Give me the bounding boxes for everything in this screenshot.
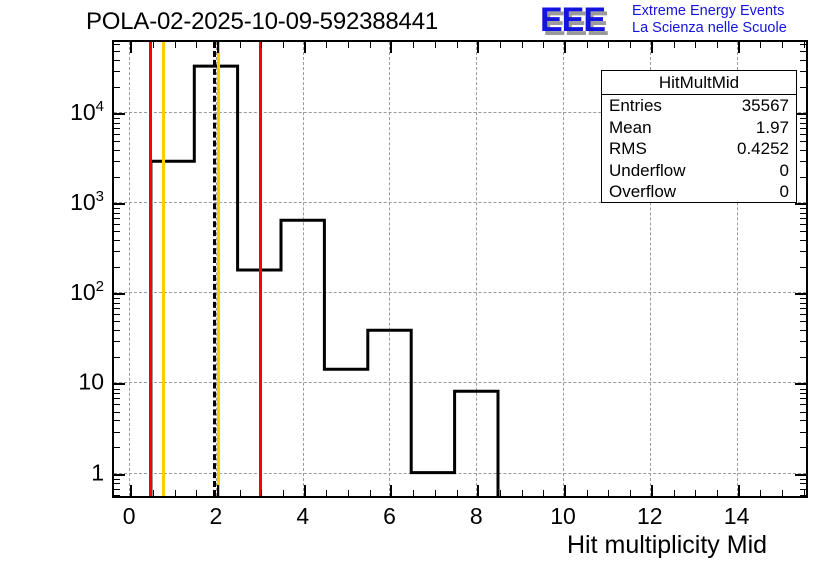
axis-tick xyxy=(114,308,120,309)
axis-tick xyxy=(800,231,806,232)
axis-tick xyxy=(370,42,371,48)
axis-tick xyxy=(240,490,241,496)
x-axis-title: Hit multiplicity Mid xyxy=(567,531,767,560)
axis-tick xyxy=(800,213,806,214)
axis-tick xyxy=(114,224,120,225)
axis-tick xyxy=(114,432,120,433)
axis-tick xyxy=(114,213,120,214)
stats-row: RMS0.4252 xyxy=(602,138,796,160)
axis-tick xyxy=(114,51,120,52)
axis-tick xyxy=(800,251,806,252)
axis-tick xyxy=(804,42,805,48)
axis-tick xyxy=(114,303,120,304)
axis-tick xyxy=(114,177,120,178)
y-tick-label: 102 xyxy=(42,279,104,307)
axis-tick xyxy=(326,490,327,496)
axis-tick xyxy=(435,42,436,48)
axis-tick xyxy=(196,42,197,48)
y-tick-label: 104 xyxy=(42,98,104,126)
axis-tick xyxy=(114,134,120,135)
axis-tick xyxy=(800,404,806,405)
axis-tick xyxy=(522,42,523,48)
axis-tick xyxy=(800,208,806,209)
axis-tick xyxy=(114,298,120,299)
axis-tick xyxy=(800,398,806,399)
axis-tick xyxy=(800,177,806,178)
axis-tick xyxy=(114,357,120,358)
axis-tick xyxy=(800,483,806,484)
axis-tick xyxy=(413,42,414,48)
axis-tick xyxy=(800,341,806,342)
axis-tick xyxy=(800,389,806,390)
axis-tick xyxy=(114,341,120,342)
stats-row: Mean1.97 xyxy=(602,117,796,139)
axis-tick xyxy=(717,490,718,496)
axis-tick xyxy=(390,42,392,53)
axis-tick xyxy=(800,308,806,309)
axis-tick xyxy=(114,231,120,232)
axis-tick xyxy=(800,161,806,162)
axis-tick xyxy=(114,447,120,448)
stats-row-label: Entries xyxy=(609,95,662,117)
axis-tick xyxy=(795,203,806,205)
stats-row-label: Overflow xyxy=(609,181,676,203)
axis-tick xyxy=(760,490,761,496)
axis-tick xyxy=(800,224,806,225)
axis-tick xyxy=(283,490,284,496)
axis-tick xyxy=(175,42,176,48)
stats-row: Underflow0 xyxy=(602,160,796,182)
axis-tick xyxy=(674,490,675,496)
axis-tick xyxy=(114,87,120,88)
axis-tick xyxy=(114,314,120,315)
eee-tagline-line1: Extreme Energy Events xyxy=(632,3,787,20)
axis-tick xyxy=(348,490,349,496)
axis-tick xyxy=(457,42,458,48)
axis-tick xyxy=(500,490,501,496)
axis-tick xyxy=(800,447,806,448)
axis-tick xyxy=(153,490,154,496)
axis-tick xyxy=(800,412,806,413)
axis-tick xyxy=(114,44,120,45)
axis-tick xyxy=(153,42,154,48)
axis-tick xyxy=(800,432,806,433)
axis-tick xyxy=(800,44,806,45)
x-tick-label: 12 xyxy=(637,503,663,530)
axis-tick xyxy=(800,321,806,322)
axis-tick xyxy=(217,485,219,496)
axis-tick xyxy=(717,42,718,48)
axis-tick xyxy=(587,490,588,496)
x-tick-label: 8 xyxy=(470,503,483,530)
axis-tick xyxy=(457,490,458,496)
axis-tick xyxy=(760,42,761,48)
axis-tick xyxy=(800,141,806,142)
axis-tick xyxy=(800,134,806,135)
axis-tick xyxy=(114,495,120,496)
axis-tick xyxy=(114,203,125,205)
stats-row-label: RMS xyxy=(609,138,647,160)
stats-row-value: 0.4252 xyxy=(737,138,789,160)
axis-tick xyxy=(587,42,588,48)
axis-tick xyxy=(500,42,501,48)
axis-tick xyxy=(543,490,544,496)
axis-tick xyxy=(114,218,120,219)
axis-tick xyxy=(564,485,566,496)
axis-tick xyxy=(800,479,806,480)
axis-tick xyxy=(800,240,806,241)
axis-tick xyxy=(738,485,740,496)
axis-tick xyxy=(800,303,806,304)
axis-tick xyxy=(800,123,806,124)
axis-tick xyxy=(695,42,696,48)
axis-tick xyxy=(522,490,523,496)
axis-tick xyxy=(800,267,806,268)
axis-tick xyxy=(800,357,806,358)
stats-row-value: 0 xyxy=(780,160,789,182)
root-canvas: POLA-02-2025-10-09-592388441 EEE Extreme… xyxy=(0,0,836,572)
axis-tick xyxy=(114,412,120,413)
axis-tick xyxy=(114,398,120,399)
axis-tick xyxy=(630,490,631,496)
axis-tick xyxy=(608,42,609,48)
axis-tick xyxy=(477,42,479,53)
axis-tick xyxy=(695,490,696,496)
axis-tick xyxy=(800,87,806,88)
axis-tick xyxy=(196,490,197,496)
stats-row: Overflow0 xyxy=(602,181,796,203)
y-tick-label: 1 xyxy=(42,459,104,486)
axis-tick xyxy=(114,141,120,142)
axis-tick xyxy=(795,383,806,385)
x-tick-label: 0 xyxy=(123,503,136,530)
axis-tick xyxy=(413,490,414,496)
axis-tick xyxy=(800,330,806,331)
axis-tick xyxy=(114,60,120,61)
axis-tick xyxy=(261,490,262,496)
axis-tick xyxy=(800,489,806,490)
axis-tick xyxy=(114,161,120,162)
axis-tick xyxy=(800,314,806,315)
axis-tick xyxy=(800,51,806,52)
axis-tick xyxy=(800,60,806,61)
axis-tick xyxy=(283,42,284,48)
axis-tick xyxy=(800,420,806,421)
x-tick-label: 2 xyxy=(210,503,223,530)
stats-box-title: HitMultMid xyxy=(602,71,796,95)
axis-tick xyxy=(304,42,306,53)
axis-tick xyxy=(114,113,125,115)
axis-tick xyxy=(782,490,783,496)
axis-tick xyxy=(114,240,120,241)
eee-tagline-line2: La Scienza nelle Scuole xyxy=(632,20,787,37)
axis-tick xyxy=(608,490,609,496)
axis-tick xyxy=(795,474,806,476)
axis-tick xyxy=(564,42,566,53)
axis-tick xyxy=(800,393,806,394)
axis-tick xyxy=(114,420,120,421)
axis-tick xyxy=(114,474,125,476)
axis-tick xyxy=(390,485,392,496)
stats-row-label: Underflow xyxy=(609,160,686,182)
axis-tick xyxy=(800,118,806,119)
eee-logo-tagline: Extreme Energy Events La Scienza nelle S… xyxy=(632,3,787,37)
axis-tick xyxy=(114,150,120,151)
axis-tick xyxy=(651,42,653,53)
axis-tick xyxy=(543,42,544,48)
axis-tick xyxy=(114,123,120,124)
x-tick-label: 4 xyxy=(296,503,309,530)
stats-row-label: Mean xyxy=(609,117,652,139)
axis-tick xyxy=(800,218,806,219)
axis-tick xyxy=(800,71,806,72)
axis-tick xyxy=(630,42,631,48)
axis-tick xyxy=(217,42,219,53)
axis-tick xyxy=(114,330,120,331)
axis-tick xyxy=(114,128,120,129)
stats-box-rows: Entries35567Mean1.97RMS0.4252Underflow0O… xyxy=(602,95,796,203)
eee-logo: EEE Extreme Energy Events La Scienza nel… xyxy=(540,2,832,42)
axis-tick xyxy=(304,485,306,496)
axis-tick xyxy=(738,42,740,53)
axis-tick xyxy=(800,150,806,151)
stats-box: HitMultMid Entries35567Mean1.97RMS0.4252… xyxy=(601,70,797,203)
axis-tick xyxy=(114,404,120,405)
stats-row-value: 35567 xyxy=(742,95,789,117)
x-tick-label: 6 xyxy=(383,503,396,530)
axis-tick xyxy=(782,42,783,48)
axis-tick xyxy=(175,490,176,496)
axis-tick xyxy=(261,42,262,48)
stats-row: Entries35567 xyxy=(602,95,796,117)
axis-tick xyxy=(800,495,806,496)
axis-tick xyxy=(114,293,125,295)
axis-tick xyxy=(130,42,132,53)
eee-logo-letters: EEE xyxy=(540,3,626,37)
axis-tick xyxy=(435,490,436,496)
axis-tick xyxy=(114,489,120,490)
stats-row-value: 0 xyxy=(780,181,789,203)
axis-tick xyxy=(651,485,653,496)
axis-tick xyxy=(114,393,120,394)
y-tick-label: 10 xyxy=(42,369,104,396)
axis-tick xyxy=(114,71,120,72)
axis-tick xyxy=(795,293,806,295)
axis-tick xyxy=(800,298,806,299)
axis-tick xyxy=(240,42,241,48)
axis-tick xyxy=(114,118,120,119)
axis-tick xyxy=(477,485,479,496)
axis-tick xyxy=(114,383,125,385)
stats-row-value: 1.97 xyxy=(756,117,789,139)
axis-tick xyxy=(326,42,327,48)
axis-tick xyxy=(114,389,120,390)
x-tick-label: 10 xyxy=(550,503,576,530)
axis-tick xyxy=(114,208,120,209)
axis-tick xyxy=(114,267,120,268)
axis-tick xyxy=(114,483,120,484)
x-tick-label: 14 xyxy=(724,503,750,530)
axis-tick xyxy=(114,251,120,252)
axis-tick xyxy=(800,128,806,129)
axis-tick xyxy=(348,42,349,48)
page-title: POLA-02-2025-10-09-592388441 xyxy=(86,8,438,36)
axis-tick xyxy=(370,490,371,496)
axis-tick xyxy=(674,42,675,48)
axis-tick xyxy=(130,485,132,496)
axis-tick xyxy=(114,321,120,322)
y-tick-label: 103 xyxy=(42,188,104,216)
axis-tick xyxy=(114,479,120,480)
